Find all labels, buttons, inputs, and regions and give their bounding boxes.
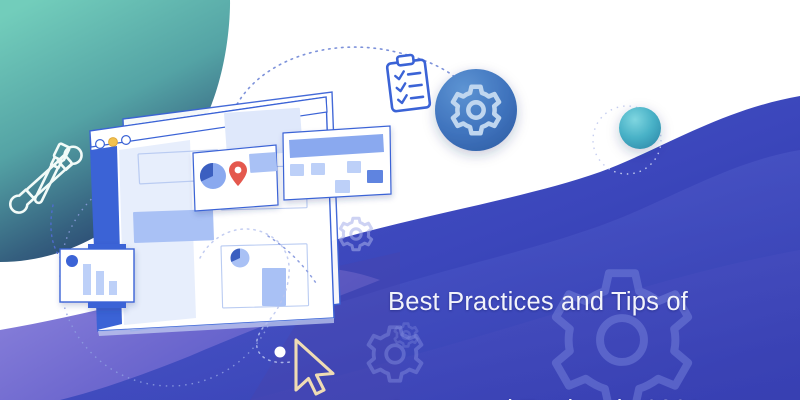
gear-outline-icon <box>340 218 371 250</box>
dotted-arc-right <box>268 236 318 286</box>
promo-banner: Best Practices and Tips of Automated Tes… <box>0 0 800 400</box>
arc-endpoint-dot-white <box>275 347 286 358</box>
cursor-arrow-icon[interactable] <box>296 340 333 394</box>
dotted-arc-bottom <box>200 229 290 363</box>
headline-line-2: Automated Testing in 2021 <box>388 392 718 400</box>
headline-line-1: Best Practices and Tips of <box>388 284 718 320</box>
page-title: Best Practices and Tips of Automated Tes… <box>388 212 718 400</box>
